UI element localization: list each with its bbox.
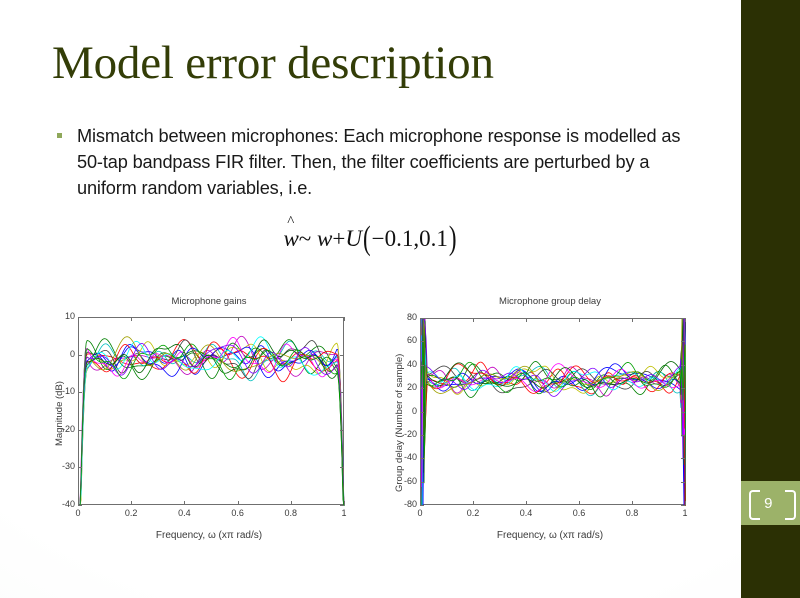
chart-series-line: [421, 319, 686, 506]
xtick-label: 0.8: [277, 508, 305, 518]
chart-series-line: [421, 319, 686, 506]
ytick-label: -20: [391, 429, 417, 439]
chart-series-line: [421, 319, 686, 506]
ytick-label: 60: [391, 335, 417, 345]
xtick-mark: [579, 318, 580, 322]
xtick-mark: [291, 317, 292, 321]
ytick-label: 10: [49, 311, 75, 321]
xtick-mark: [420, 318, 421, 322]
ytick-mark: [681, 341, 685, 342]
xtick-label: 1: [330, 508, 358, 518]
chart-series-line: [79, 340, 345, 506]
bracket-left-icon: [749, 490, 760, 520]
chart-traces-gains: [79, 318, 345, 506]
chart-series-line: [79, 339, 345, 506]
page-number-text: 9: [764, 495, 777, 512]
xtick-mark: [344, 317, 345, 321]
ytick-mark: [681, 365, 685, 366]
ytick-mark: [420, 388, 424, 389]
xtick-mark: [238, 501, 239, 505]
equation-tilde: ~: [299, 226, 311, 251]
plot-area-groupdelay: [420, 318, 685, 505]
chart-series-line: [421, 319, 686, 506]
chart-series-line: [421, 319, 686, 506]
ytick-label: 20: [391, 382, 417, 392]
ytick-label: -40: [391, 452, 417, 462]
xtick-mark: [291, 501, 292, 505]
ytick-mark: [420, 435, 424, 436]
chart-series-line: [421, 319, 686, 506]
ytick-mark: [340, 505, 344, 506]
ytick-mark: [681, 505, 685, 506]
chart-series-line: [421, 319, 686, 506]
ytick-mark: [340, 467, 344, 468]
xtick-mark: [632, 501, 633, 505]
xtick-mark: [131, 501, 132, 505]
figure-microphone-gains: Microphone gains Magnitude (dB) Frequenc…: [44, 296, 374, 546]
xtick-mark: [131, 317, 132, 321]
ytick-label: -30: [49, 461, 75, 471]
chart-series-line: [79, 339, 345, 506]
ytick-label: -10: [49, 386, 75, 396]
figure-microphone-group-delay: Microphone group delay Group delay (Numb…: [385, 296, 715, 546]
ytick-mark: [681, 412, 685, 413]
chart-title-gains: Microphone gains: [44, 296, 374, 307]
ytick-mark: [420, 505, 424, 506]
page-title: Model error description: [52, 38, 712, 89]
ytick-mark: [78, 355, 82, 356]
ytick-label: 80: [391, 312, 417, 322]
bullet-text: Mismatch between microphones: Each micro…: [77, 124, 705, 202]
bullet-marker-icon: [57, 133, 62, 138]
chart-traces-groupdelay: [421, 319, 686, 506]
chart-series-line: [79, 340, 345, 506]
equation-close-paren: ): [449, 220, 457, 258]
page-number-badge: 9: [741, 481, 800, 525]
equation-lhs: w: [283, 226, 298, 252]
bullet-list-item: Mismatch between microphones: Each micro…: [57, 124, 705, 202]
equation-plus: +: [332, 226, 345, 251]
xtick-label: 0.6: [565, 508, 593, 518]
ytick-label: 0: [391, 406, 417, 416]
xtick-mark: [420, 501, 421, 505]
xtick-mark: [473, 501, 474, 505]
ytick-mark: [420, 482, 424, 483]
chart-series-line: [421, 319, 686, 417]
xtick-mark: [526, 501, 527, 505]
ytick-mark: [420, 458, 424, 459]
ytick-mark: [78, 505, 82, 506]
ytick-mark: [340, 355, 344, 356]
chart-series-line: [421, 319, 686, 506]
ytick-label: 0: [49, 349, 75, 359]
equation-rhs-w: w: [317, 226, 332, 251]
ytick-label: -60: [391, 476, 417, 486]
xtick-label: 0.4: [512, 508, 540, 518]
xtick-label: 0.2: [117, 508, 145, 518]
bracket-right-icon: [785, 490, 796, 520]
equation-dist-symbol: U: [345, 226, 362, 251]
xtick-label: 0.8: [618, 508, 646, 518]
ytick-mark: [340, 430, 344, 431]
chart-series-line: [421, 319, 686, 506]
ytick-mark: [681, 388, 685, 389]
ytick-label: 40: [391, 359, 417, 369]
slide-canvas: 9 Model error description Mismatch betwe…: [0, 0, 800, 598]
xtick-mark: [685, 318, 686, 322]
chart-ylabel-groupdelay: Group delay (Number of sample): [394, 354, 405, 492]
xtick-label: 0: [64, 508, 92, 518]
xtick-label: 0.6: [224, 508, 252, 518]
xtick-mark: [579, 501, 580, 505]
xtick-mark: [78, 317, 79, 321]
xtick-mark: [473, 318, 474, 322]
chart-xlabel-gains: Frequency, ω (xπ rad/s): [44, 530, 374, 541]
equation-open-paren: (: [363, 220, 371, 258]
xtick-label: 1: [671, 508, 699, 518]
ytick-mark: [420, 341, 424, 342]
plot-area-gains: [78, 317, 344, 505]
ytick-mark: [681, 482, 685, 483]
xtick-mark: [78, 501, 79, 505]
ytick-mark: [78, 430, 82, 431]
xtick-mark: [685, 501, 686, 505]
chart-series-line: [79, 340, 345, 506]
ytick-mark: [681, 458, 685, 459]
ytick-label: -20: [49, 424, 75, 434]
chart-series-line: [421, 319, 686, 506]
chart-xlabel-groupdelay: Frequency, ω (xπ rad/s): [385, 530, 715, 541]
ytick-mark: [340, 392, 344, 393]
xtick-mark: [526, 318, 527, 322]
chart-series-line: [421, 319, 686, 491]
ytick-mark: [420, 365, 424, 366]
xtick-mark: [344, 501, 345, 505]
xtick-mark: [184, 501, 185, 505]
xtick-mark: [632, 318, 633, 322]
equation-display: w~ w+U(−0.1,0.1): [0, 226, 741, 252]
chart-series-line: [421, 319, 686, 506]
chart-title-groupdelay: Microphone group delay: [385, 296, 715, 307]
ytick-mark: [681, 435, 685, 436]
ytick-mark: [78, 467, 82, 468]
equation-argument: −0.1,0.1: [372, 226, 448, 251]
xtick-label: 0.2: [459, 508, 487, 518]
ytick-mark: [420, 412, 424, 413]
chart-series-line: [421, 319, 686, 506]
xtick-mark: [184, 317, 185, 321]
xtick-label: 0: [406, 508, 434, 518]
xtick-mark: [238, 317, 239, 321]
ytick-mark: [78, 392, 82, 393]
chart-series-line: [421, 319, 686, 506]
xtick-label: 0.4: [170, 508, 198, 518]
